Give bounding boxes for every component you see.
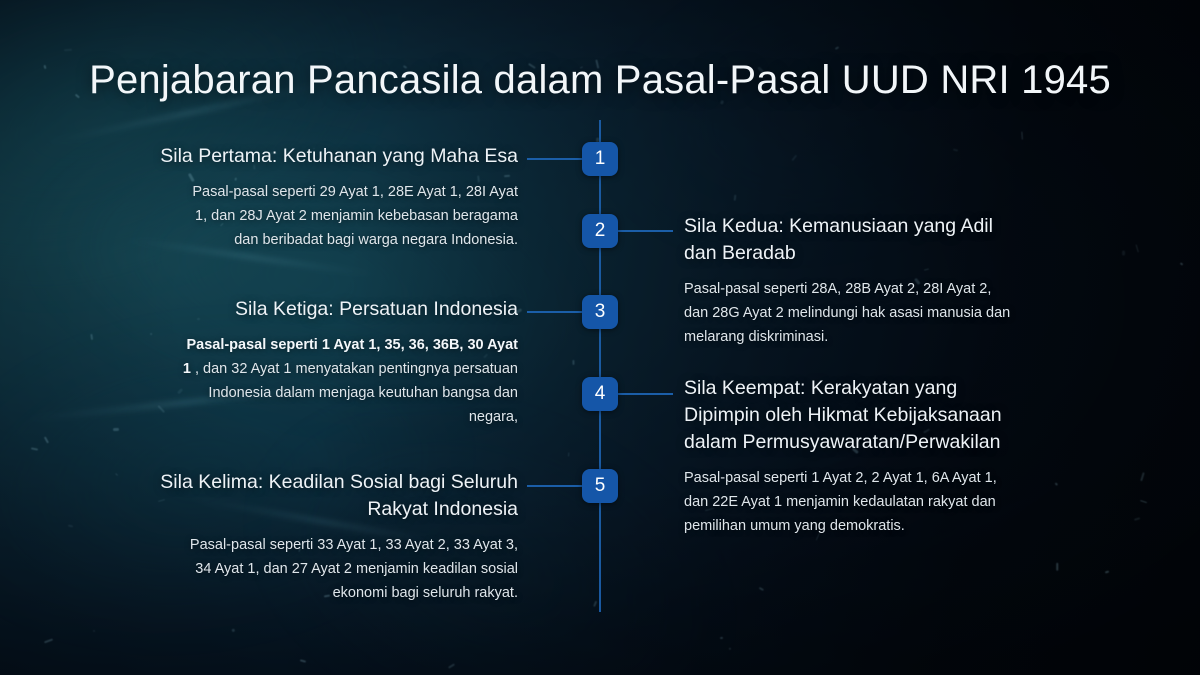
timeline-connector-5 xyxy=(527,485,583,487)
timeline-item-5-body: Pasal-pasal seperti 33 Ayat 1, 33 Ayat 2… xyxy=(160,533,518,605)
timeline-marker-2[interactable]: 2 xyxy=(582,214,618,248)
timeline-item-3: Sila Ketiga: Persatuan Indonesia Pasal-p… xyxy=(160,296,518,429)
timeline-item-4: Sila Keempat: Kerakyatan yang Dipimpin o… xyxy=(684,375,1014,538)
timeline-connector-3 xyxy=(527,311,583,313)
timeline-marker-1[interactable]: 1 xyxy=(582,142,618,176)
timeline-item-1-body: Pasal-pasal seperti 29 Ayat 1, 28E Ayat … xyxy=(160,180,518,252)
timeline-item-5-title: Sila Kelima: Keadilan Sosial bagi Seluru… xyxy=(160,469,518,523)
timeline-item-3-body: Pasal-pasal seperti 1 Ayat 1, 35, 36, 36… xyxy=(160,333,518,429)
timeline-marker-4[interactable]: 4 xyxy=(582,377,618,411)
timeline-item-4-body: Pasal-pasal seperti 1 Ayat 2, 2 Ayat 1, … xyxy=(684,466,1014,538)
timeline-item-4-title: Sila Keempat: Kerakyatan yang Dipimpin o… xyxy=(684,375,1014,456)
timeline-connector-2 xyxy=(617,230,673,232)
timeline-item-3-body-rest: , dan 32 Ayat 1 menyatakan pentingnya pe… xyxy=(191,361,518,425)
timeline-connector-4 xyxy=(617,393,673,395)
timeline-item-2-title: Sila Kedua: Kemanusiaan yang Adil dan Be… xyxy=(684,213,1024,267)
timeline-marker-3[interactable]: 3 xyxy=(582,295,618,329)
timeline-item-5: Sila Kelima: Keadilan Sosial bagi Seluru… xyxy=(160,469,518,605)
timeline-item-2-body: Pasal-pasal seperti 28A, 28B Ayat 2, 28I… xyxy=(684,277,1024,349)
timeline-marker-5[interactable]: 5 xyxy=(582,469,618,503)
timeline-spine xyxy=(599,120,601,612)
slide-content: Penjabaran Pancasila dalam Pasal-Pasal U… xyxy=(0,0,1200,675)
timeline-connector-1 xyxy=(527,158,583,160)
timeline-item-2: Sila Kedua: Kemanusiaan yang Adil dan Be… xyxy=(684,213,1024,349)
timeline-item-1-title: Sila Pertama: Ketuhanan yang Maha Esa xyxy=(160,143,518,170)
timeline-item-3-title: Sila Ketiga: Persatuan Indonesia xyxy=(160,296,518,323)
timeline-item-1: Sila Pertama: Ketuhanan yang Maha Esa Pa… xyxy=(160,143,518,252)
page-title: Penjabaran Pancasila dalam Pasal-Pasal U… xyxy=(0,58,1200,103)
